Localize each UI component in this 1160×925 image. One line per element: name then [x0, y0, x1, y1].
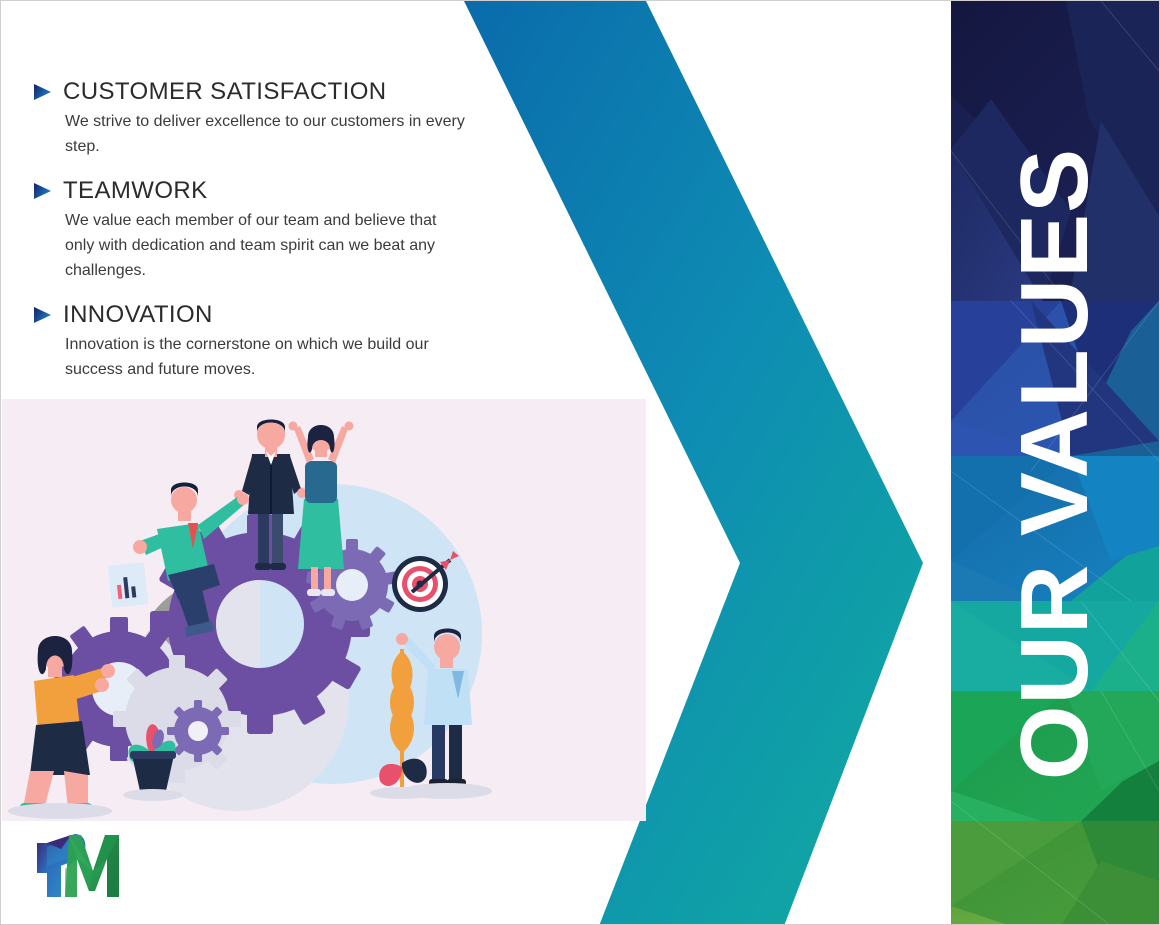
value-title: CUSTOMER SATISFACTION	[63, 79, 387, 105]
slide-page: OUR VALUES	[0, 0, 1160, 925]
value-heading-row: CUSTOMER SATISFACTION	[31, 79, 471, 105]
value-description: We strive to deliver excellence to our c…	[65, 110, 465, 160]
value-title: TEAMWORK	[63, 178, 208, 204]
triangle-bullet-icon	[31, 180, 53, 202]
pm-logo-icon[interactable]	[31, 829, 131, 901]
triangle-bullet-icon	[31, 81, 53, 103]
value-description: We value each member of our team and bel…	[65, 209, 465, 283]
pm-logo[interactable]	[31, 829, 131, 901]
value-item-innovation: INNOVATION Innovation is the cornerstone…	[31, 302, 471, 383]
gear-grey-behind	[113, 655, 241, 783]
illustration-panel	[2, 399, 646, 821]
value-title: INNOVATION	[63, 302, 213, 328]
side-banner-polygons	[951, 1, 1159, 925]
side-banner: OUR VALUES	[951, 1, 1159, 925]
teamwork-gears-illustration	[2, 399, 646, 821]
chart-document-icon	[108, 562, 148, 608]
value-item-teamwork: TEAMWORK We value each member of our tea…	[31, 178, 471, 284]
value-description: Innovation is the cornerstone on which w…	[65, 333, 465, 383]
triangle-bullet-icon	[31, 304, 53, 326]
value-item-customer-satisfaction: CUSTOMER SATISFACTION We strive to deliv…	[31, 79, 471, 160]
gear-tiny	[167, 700, 229, 762]
value-heading-row: INNOVATION	[31, 302, 471, 328]
value-heading-row: TEAMWORK	[31, 178, 471, 204]
values-list: CUSTOMER SATISFACTION We strive to deliv…	[31, 79, 471, 401]
